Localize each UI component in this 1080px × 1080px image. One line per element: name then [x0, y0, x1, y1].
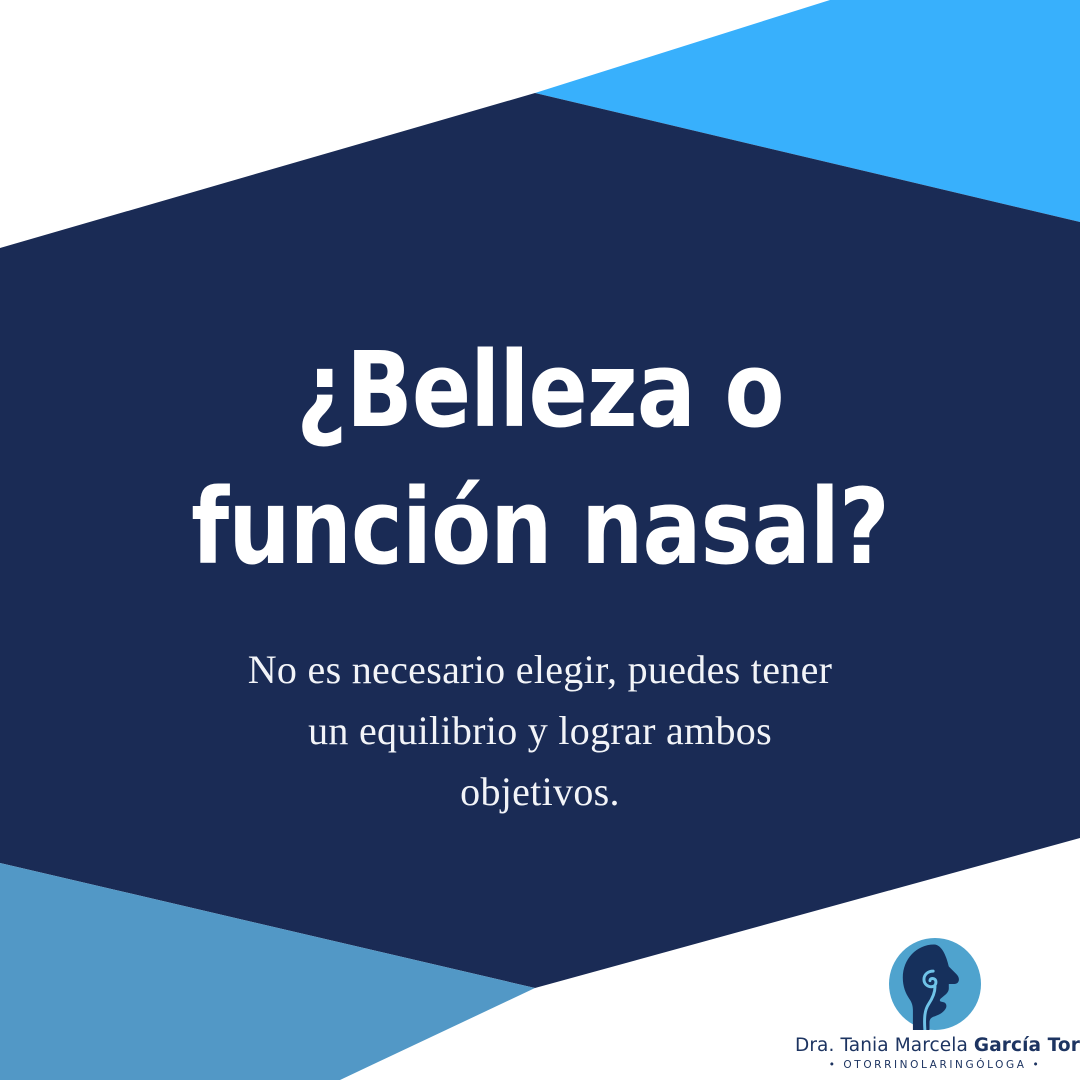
- poster-canvas: ¿Belleza o función nasal? No es necesari…: [0, 0, 1080, 1080]
- body-copy-line-3: objetivos.: [180, 762, 900, 823]
- head-profile-nasal-airway-icon: [889, 938, 981, 1030]
- headline-line-2: función nasal?: [86, 459, 993, 596]
- logo-lockup: Dra. Tania Marcela García Torres • OTORR…: [795, 938, 1075, 1071]
- body-copy-line-1: No es necesario elegir, puedes tener: [180, 640, 900, 701]
- body-copy-line-2: un equilibrio y lograr ambos: [180, 701, 900, 762]
- body-copy: No es necesario elegir, puedes tener un …: [180, 640, 900, 822]
- headline-line-1: ¿Belleza o: [86, 322, 993, 459]
- logo-specialty: • OTORRINOLARINGÓLOGA •: [795, 1059, 1075, 1071]
- headline: ¿Belleza o función nasal?: [86, 322, 993, 597]
- logo-practitioner-name: Dra. Tania Marcela García Torres: [795, 1036, 1075, 1056]
- logo-name-light: Dra. Tania Marcela: [795, 1035, 974, 1056]
- logo-name-bold: García Torres: [974, 1035, 1080, 1056]
